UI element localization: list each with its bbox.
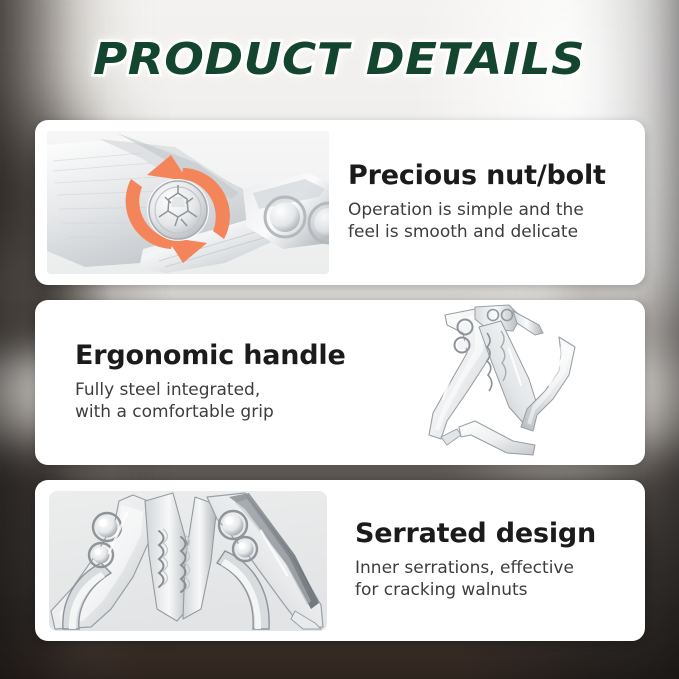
card-description: Inner serrations, effective for cracking… xyxy=(355,557,631,602)
nutcracker-pivot-bolt-closeup xyxy=(47,131,329,274)
nutcracker-full-tool xyxy=(417,303,627,463)
detail-card-ergonomic-handle: Ergonomic handle Fully steel integrated,… xyxy=(35,300,645,465)
page-title: PRODUCT DETAILS xyxy=(93,34,585,85)
card-description: Fully steel integrated, with a comfortab… xyxy=(75,379,407,424)
card-text-block: Ergonomic handle Fully steel integrated,… xyxy=(35,341,417,423)
page-title-container: PRODUCT DETAILS xyxy=(0,34,679,85)
product-details-infographic: PRODUCT DETAILS xyxy=(0,0,679,679)
card-title: Precious nut/bolt xyxy=(348,161,631,191)
detail-card-precious-nut-bolt: Precious nut/bolt Operation is simple an… xyxy=(35,120,645,285)
card-description: Operation is simple and the feel is smoo… xyxy=(348,199,631,244)
nutcracker-serrated-jaws-closeup xyxy=(49,491,327,631)
card-text-block: Serrated design Inner serrations, effect… xyxy=(327,519,645,601)
card-title: Ergonomic handle xyxy=(75,341,407,371)
card-text-block: Precious nut/bolt Operation is simple an… xyxy=(329,161,645,243)
card-title: Serrated design xyxy=(355,519,631,549)
detail-card-serrated-design: Serrated design Inner serrations, effect… xyxy=(35,480,645,641)
